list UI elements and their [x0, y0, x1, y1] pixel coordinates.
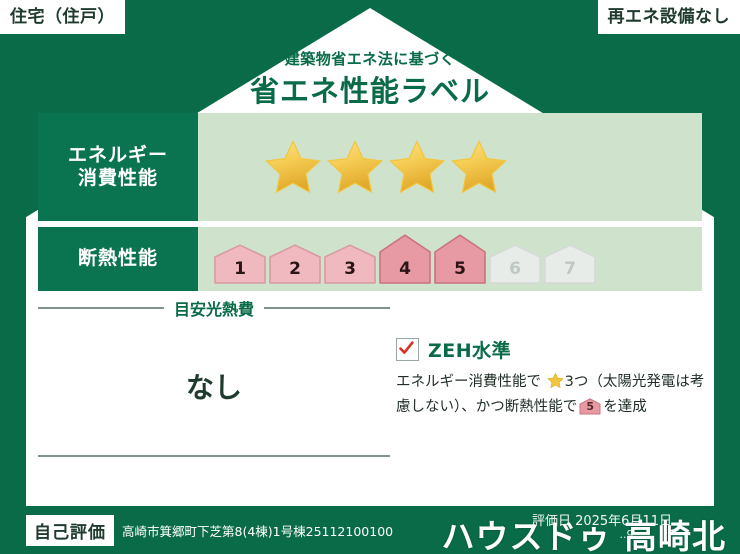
inline-grade-value: 5 — [579, 398, 601, 415]
insulation-grade-4: 4 — [379, 234, 431, 284]
insulation-grade-2: 2 — [269, 244, 321, 284]
zeh-description: エネルギー消費性能で 3つ（太陽光発電は考慮しない）、かつ断熱性能で 5 を達成 — [396, 371, 714, 419]
star-rating — [198, 138, 508, 196]
inline-star-icon — [542, 377, 564, 393]
row-energy-label-line2: 消費性能 — [78, 167, 158, 190]
utility-cost-value: なし — [38, 366, 390, 406]
zeh-title: ZEH水準 — [428, 336, 511, 363]
row-energy-body — [198, 113, 702, 221]
tag-renewable-energy: 再エネ設備なし — [598, 0, 740, 34]
star-icon — [388, 138, 446, 196]
property-address: 高崎市箕郷町下芝第8(4棟)1号棟25112100100 — [122, 521, 393, 540]
zeh-heading: ZEH水準 — [396, 336, 714, 363]
utility-cost-title: 目安光熱費 — [164, 296, 264, 320]
row-energy-label-line1: エネルギー — [68, 144, 168, 167]
insulation-grade-value: 1 — [214, 259, 266, 279]
zeh-checkbox[interactable] — [396, 338, 419, 361]
row-insulation-body: 1234567 — [198, 227, 702, 291]
insulation-grade-1: 1 — [214, 244, 266, 284]
row-energy-performance: エネルギー 消費性能 — [38, 113, 702, 221]
bottom-divider — [38, 455, 390, 457]
insulation-grade-value: 4 — [379, 259, 431, 279]
insulation-grade-value: 2 — [269, 259, 321, 279]
row-insulation-performance: 断熱性能 1234567 — [38, 227, 702, 291]
insulation-grade-value: 6 — [489, 259, 541, 279]
star-icon — [450, 138, 508, 196]
row-energy-label: エネルギー 消費性能 — [38, 113, 198, 221]
energy-label-root: 住宅（住戸） 再エネ設備なし 建築物省エネ法に基づく 省エネ性能ラベル エネルギ… — [0, 0, 740, 554]
row-insulation-label: 断熱性能 — [38, 227, 198, 291]
cost-rule-right — [264, 307, 390, 309]
company-watermark: ハウスドゥ 高崎北 — [442, 510, 727, 554]
header-subtitle: 建築物省エネ法に基づく — [0, 48, 740, 69]
insulation-grade-value: 3 — [324, 259, 376, 279]
insulation-grade-scale: 1234567 — [198, 234, 596, 284]
utility-cost-heading: 目安光熱費 — [38, 296, 390, 320]
cost-rule-left — [38, 307, 164, 309]
insulation-grade-6: 6 — [489, 244, 541, 284]
star-icon — [326, 138, 384, 196]
insulation-grade-3: 3 — [324, 244, 376, 284]
zeh-desc-part1: エネルギー消費性能で — [396, 374, 541, 390]
insulation-grade-value: 5 — [434, 259, 486, 279]
insulation-grade-5: 5 — [434, 234, 486, 284]
zeh-block: ZEH水準 エネルギー消費性能で 3つ（太陽光発電は考慮しない）、かつ断熱性能で… — [396, 336, 714, 419]
zeh-desc-part3: を達成 — [603, 399, 647, 415]
insulation-grade-value: 7 — [544, 259, 596, 279]
tag-building-type: 住宅（住戸） — [0, 0, 125, 34]
self-evaluation-badge: 自己評価 — [26, 515, 114, 546]
inline-grade-badge: 5 — [579, 398, 601, 415]
performance-table: エネルギー 消費性能 断熱性能 1234567 — [38, 113, 702, 297]
insulation-grade-7: 7 — [544, 244, 596, 284]
page-title: 省エネ性能ラベル — [0, 68, 740, 110]
star-icon — [264, 138, 322, 196]
lower-section: 目安光熱費 なし ZEH水準 エネルギー消費性能で 3つ（太陽光発電は考慮しない… — [38, 296, 702, 464]
